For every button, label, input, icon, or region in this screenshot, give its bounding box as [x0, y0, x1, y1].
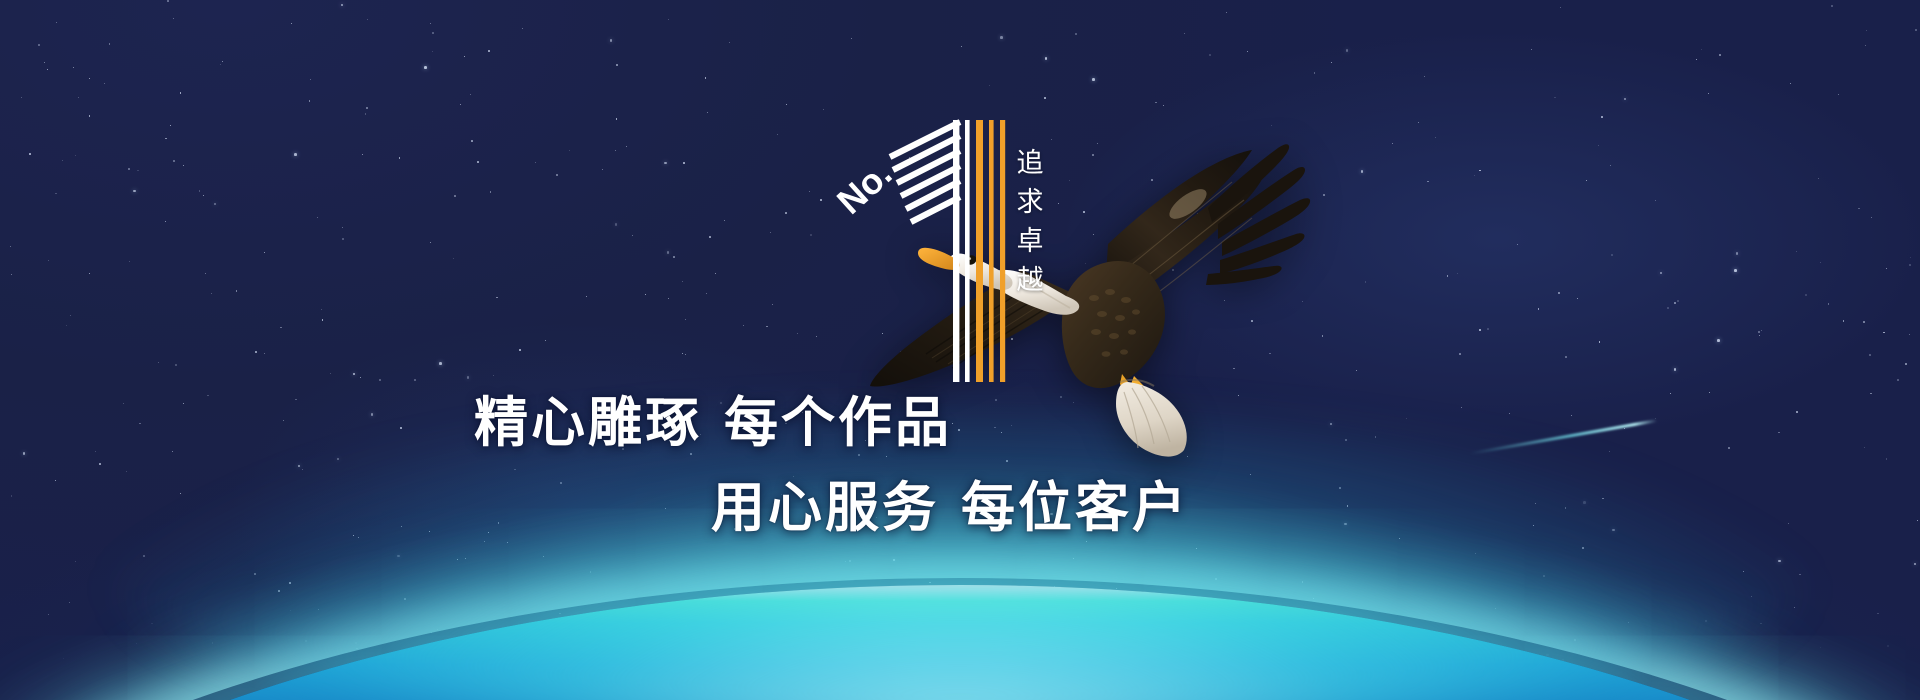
logo-vertical-stripes — [953, 120, 1005, 382]
headline-line-1: 精心雕琢每个作品 — [474, 378, 952, 457]
headline-line-2: 用心服务每位客户 — [711, 463, 1189, 542]
headline-line2-part2: 每位客户 — [961, 478, 1189, 538]
hero-banner: No. 追 求 卓 越 精心雕琢每个作品 用心服务每位客户 — [0, 0, 1920, 700]
vertical-tagline: 追 求 卓 越 — [1008, 144, 1052, 300]
tagline-char-1: 追 — [1008, 144, 1052, 183]
headline-line1-part2: 每个作品 — [724, 393, 952, 453]
headline-line2-part1: 用心服务 — [711, 478, 939, 538]
no1-logo: No. — [845, 112, 1015, 382]
tagline-char-3: 卓 — [1008, 222, 1052, 261]
logo-diagonal-strokes — [890, 122, 960, 222]
tagline-char-4: 越 — [1008, 261, 1052, 300]
tagline-char-2: 求 — [1008, 183, 1052, 222]
headline-line1-part1: 精心雕琢 — [474, 393, 702, 453]
